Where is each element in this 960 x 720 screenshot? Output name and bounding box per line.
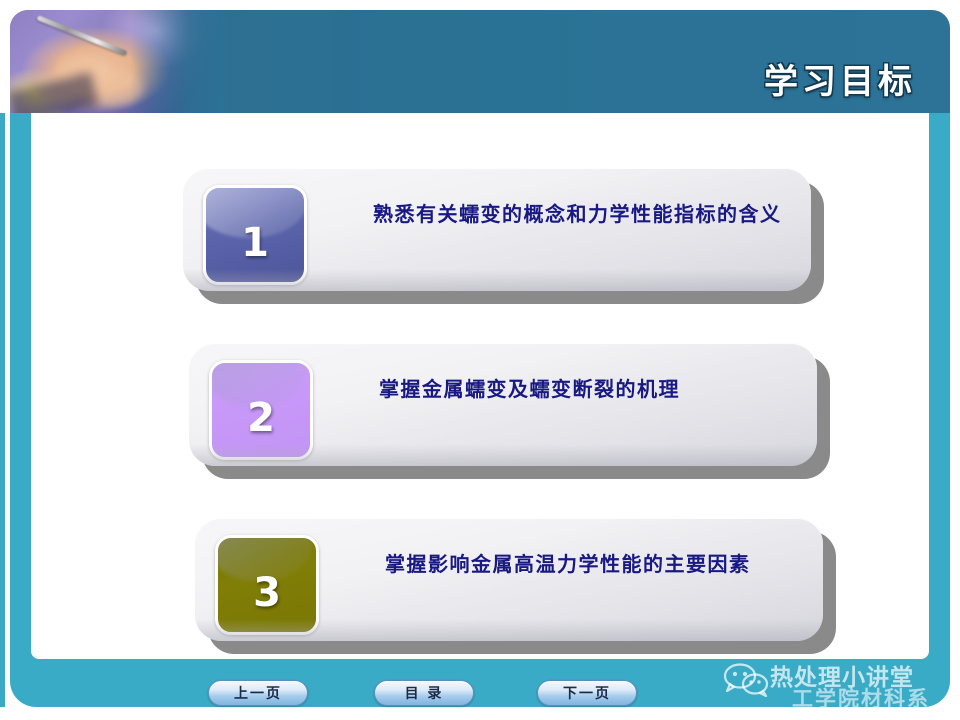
objective-card-2: 2 掌握金属蠕变及蠕变断裂的机理 xyxy=(189,343,817,466)
next-page-button[interactable]: 下一页 xyxy=(537,680,637,706)
objective-badge-1: 1 xyxy=(203,185,307,285)
slide-header: 学习目标 xyxy=(10,10,950,113)
card-surface: 1 熟悉有关蠕变的概念和力学性能指标的含义 xyxy=(183,168,811,291)
photo-fade xyxy=(130,10,225,113)
hand-with-pen-photo xyxy=(10,10,225,113)
prev-page-button[interactable]: 上一页 xyxy=(208,680,308,706)
objective-badge-3: 3 xyxy=(215,535,319,635)
objective-number: 1 xyxy=(241,223,269,263)
objective-number: 2 xyxy=(247,398,275,438)
objective-text: 掌握金属蠕变及蠕变断裂的机理 xyxy=(339,369,804,409)
objective-card-3: 3 掌握影响金属高温力学性能的主要因素 xyxy=(195,518,823,641)
pen-icon xyxy=(37,15,128,56)
objective-number: 3 xyxy=(253,573,281,613)
objective-card-1: 1 熟悉有关蠕变的概念和力学性能指标的含义 xyxy=(183,168,811,291)
objective-text: 掌握影响金属高温力学性能的主要因素 xyxy=(345,544,810,584)
card-surface: 3 掌握影响金属高温力学性能的主要因素 xyxy=(195,518,823,641)
page-title: 学习目标 xyxy=(764,54,916,103)
slide-root: 学习目标 1 熟悉有关蠕变的概念和力学性能指标的含义 2 掌握金属蠕变及蠕变断裂… xyxy=(0,0,960,720)
table-of-contents-button[interactable]: 目 录 xyxy=(374,680,474,706)
card-surface: 2 掌握金属蠕变及蠕变断裂的机理 xyxy=(189,343,817,466)
objective-badge-2: 2 xyxy=(209,360,313,460)
frame-left-stripe xyxy=(0,113,5,707)
objective-text: 熟悉有关蠕变的概念和力学性能指标的含义 xyxy=(333,194,798,234)
